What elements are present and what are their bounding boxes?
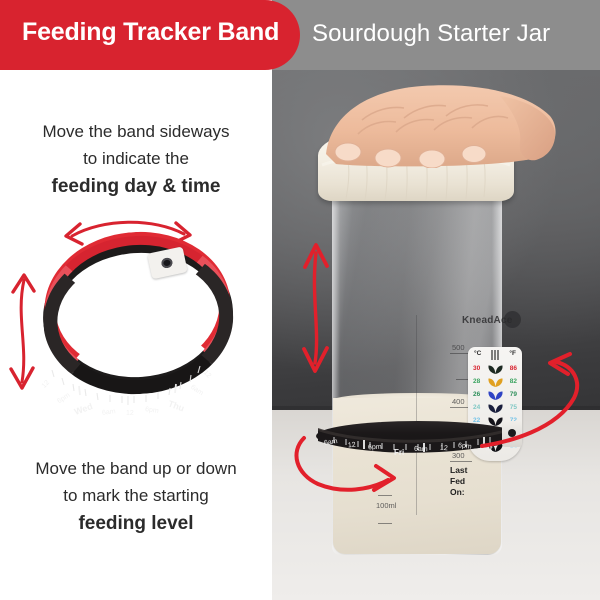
tracker-band-label: 12: [440, 445, 448, 453]
band-scale-ticks: [0, 218, 272, 433]
instructions-panel: Move the band sideways to indicate the f…: [0, 78, 272, 600]
hand: [312, 76, 560, 168]
instruction-bottom-line2: to mark the starting: [0, 482, 272, 509]
instruction-top-line1: Move the band sideways: [0, 118, 272, 145]
instruction-bottom-line3: feeding level: [0, 509, 272, 539]
last-fed-line3: On:: [450, 487, 494, 498]
band-scale-label: 12: [126, 410, 134, 417]
photo-rotate-arrow-right-icon: [478, 350, 596, 460]
last-fed-label: Last Fed On:: [450, 465, 494, 498]
volume-tick: [378, 523, 392, 524]
photo-vertical-arrow-icon: [296, 235, 336, 380]
last-fed-line1: Last: [450, 465, 494, 476]
feature-badge-label: Feeding Tracker Band: [22, 18, 279, 47]
instruction-bottom: Move the band up or down to mark the sta…: [0, 455, 272, 539]
volume-tick: [450, 461, 472, 462]
instruction-top-line2: to indicate the: [0, 145, 272, 172]
brand-logo-text: KneadAce: [462, 315, 513, 326]
volume-mark-400: 400: [452, 397, 465, 406]
last-fed-line2: Fed: [450, 476, 494, 487]
product-title: Sourdough Starter Jar: [312, 20, 550, 48]
instruction-top: Move the band sideways to indicate the f…: [0, 118, 272, 202]
tracker-band-label: 6pm: [458, 442, 472, 450]
header: Sourdough Starter Jar Feeding Tracker Ba…: [0, 0, 600, 78]
tracker-band-label: 6am: [414, 446, 428, 453]
photo-rotate-arrow-left-icon: [288, 422, 406, 514]
infographic-page: Sourdough Starter Jar Feeding Tracker Ba…: [0, 0, 600, 600]
volume-mark-500: 500: [452, 343, 465, 352]
product-photo: KneadAce 500 400 300 100ml °C °F: [272, 70, 600, 600]
band-illustration: 12 6pm Wed 6am 12 6pm Thu 6am 12: [0, 218, 272, 433]
instruction-top-line3: feeding day & time: [0, 172, 272, 202]
instruction-bottom-line1: Move the band up or down: [0, 455, 272, 482]
